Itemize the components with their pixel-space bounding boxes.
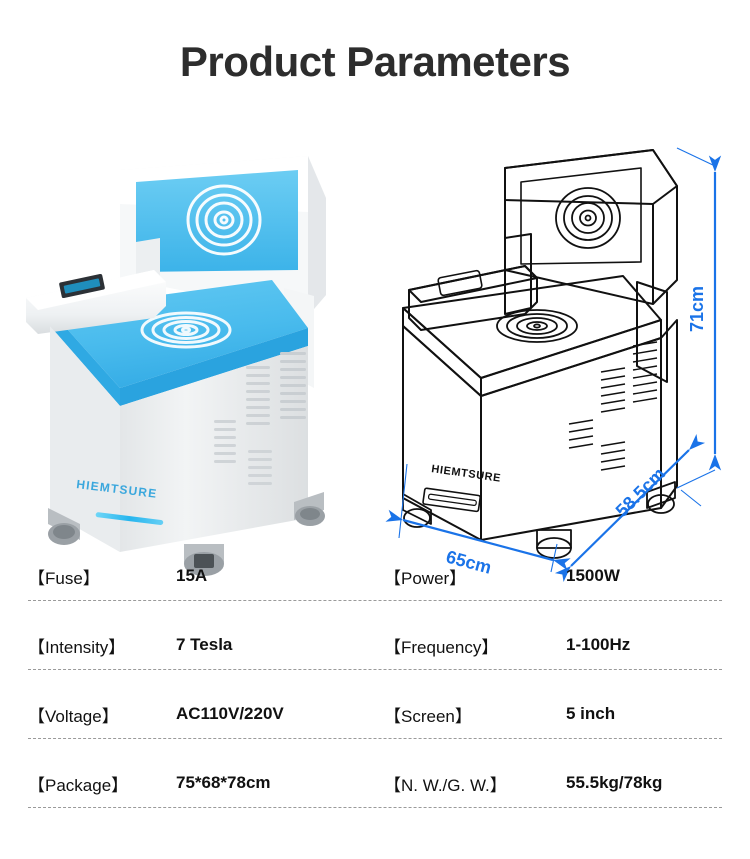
- row-spacer: [28, 670, 722, 690]
- param-label: 【Power】: [384, 564, 566, 589]
- param-value: 15A: [176, 566, 384, 586]
- row-spacer: [28, 601, 722, 621]
- param-label: 【Intensity】: [28, 633, 176, 658]
- illustration-area: HIEMTSURE: [0, 110, 750, 535]
- param-label: 【Fuse】: [28, 564, 176, 589]
- param-value: AC110V/220V: [176, 704, 384, 724]
- table-row: 【Voltage】 AC110V/220V 【Screen】 5 inch: [28, 690, 722, 739]
- param-label: 【Package】: [28, 771, 176, 796]
- product-line-drawing: HIEMTSURE 65cm 58.5cm: [385, 120, 750, 520]
- machine-body: [50, 298, 308, 552]
- table-row: 【Package】 75*68*78cm 【N. W./G. W.】 55.5k…: [28, 759, 722, 808]
- param-label: 【Voltage】: [28, 702, 176, 727]
- table-row: 【Fuse】 15A 【Power】 1500W: [28, 552, 722, 601]
- param-label: 【Frequency】: [384, 633, 566, 658]
- param-label: 【N. W./G. W.】: [384, 771, 566, 796]
- dimension-depth: 58.5cm: [571, 450, 701, 566]
- param-value: 7 Tesla: [176, 635, 384, 655]
- page-title: Product Parameters: [0, 38, 750, 86]
- dimension-height: 71cm: [677, 148, 715, 488]
- brand-text-drawing: HIEMTSURE: [431, 463, 502, 485]
- product-photo: HIEMTSURE: [8, 120, 368, 520]
- backrest-cushion: [136, 170, 298, 272]
- table-row: 【Intensity】 7 Tesla 【Frequency】 1-100Hz: [28, 621, 722, 670]
- seat-coil-icon: [497, 310, 577, 342]
- param-value: 5 inch: [566, 704, 722, 724]
- row-spacer: [28, 739, 722, 759]
- parameters-table: 【Fuse】 15A 【Power】 1500W 【Intensity】 7 T…: [28, 552, 722, 808]
- param-value: 1-100Hz: [566, 635, 722, 655]
- param-value: 75*68*78cm: [176, 773, 384, 793]
- param-label: 【Screen】: [384, 702, 566, 727]
- dimension-height-label: 71cm: [687, 286, 707, 332]
- param-value: 55.5kg/78kg: [566, 773, 722, 793]
- param-value: 1500W: [566, 566, 722, 586]
- backrest-coil-icon: [556, 188, 620, 248]
